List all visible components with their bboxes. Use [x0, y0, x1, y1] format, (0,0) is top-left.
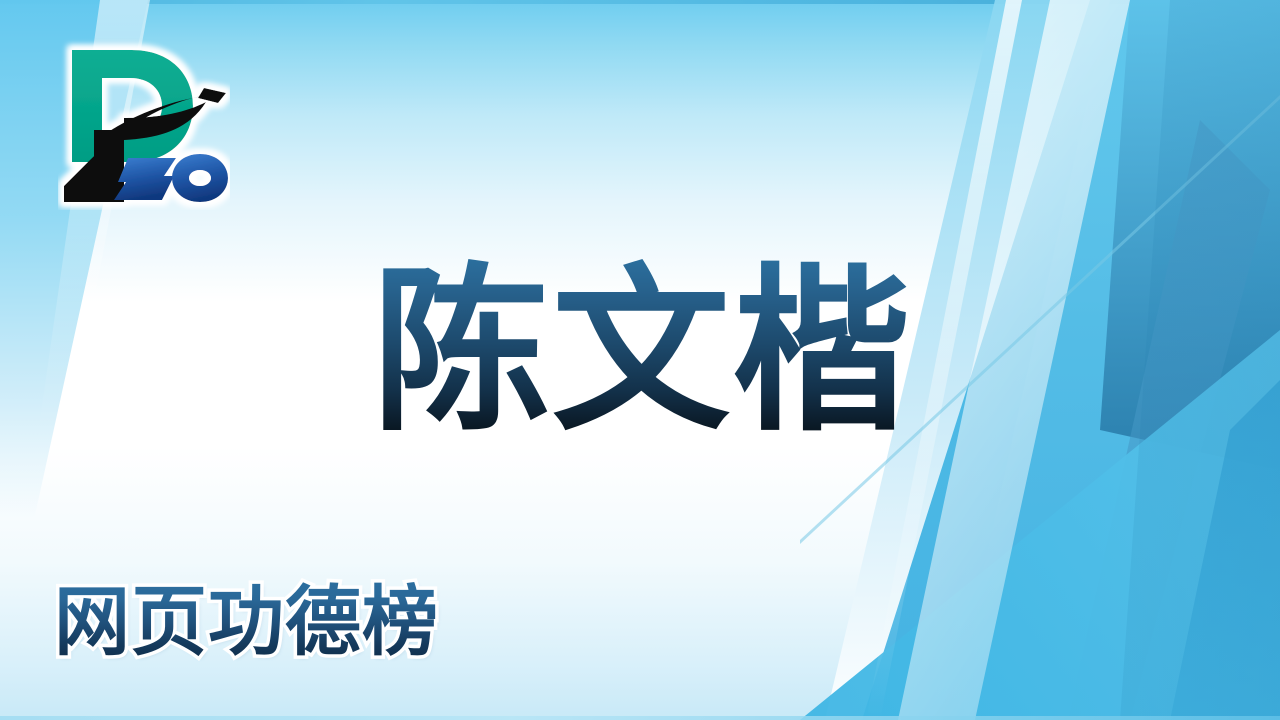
- presentation-slide: 陈文楷 网页功德榜 网页功德榜: [0, 0, 1280, 720]
- pso-logo: [58, 34, 230, 210]
- slide-title: 陈文楷: [340, 258, 944, 447]
- subtitle-text: 网页功德榜: [54, 580, 439, 665]
- logo-swoosh-tip: [198, 88, 226, 103]
- slide-subtitle: 网页功德榜 网页功德榜: [54, 582, 439, 664]
- bottom-accent-band: [0, 716, 1280, 720]
- logo-d-shape: [72, 50, 193, 162]
- logo-p-stem: [94, 130, 124, 202]
- logo-letter-o: [172, 154, 228, 202]
